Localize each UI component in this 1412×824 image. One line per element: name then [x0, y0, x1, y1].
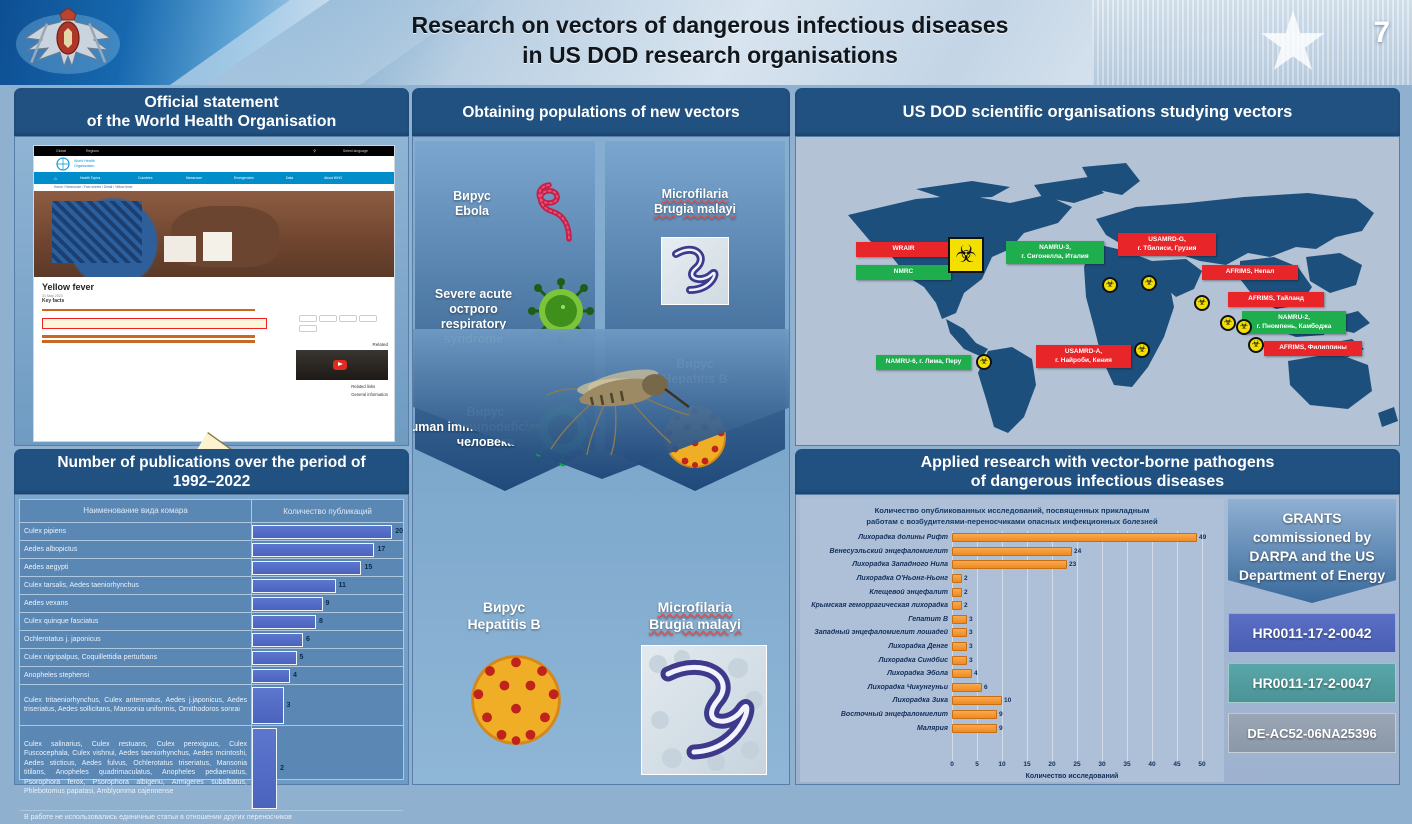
chart-bar-value: 3: [969, 629, 973, 636]
chart-bar-value: 9: [999, 725, 1003, 732]
xaxis-tick: 10: [998, 761, 1005, 768]
biohazard-icon-cambodia: ☣: [1236, 319, 1252, 335]
bar-value: 15: [364, 564, 372, 571]
play-icon[interactable]: [333, 360, 347, 370]
chart-bar-value: 9: [999, 711, 1003, 718]
chart-category-label: Лихорадка Синдбис: [800, 657, 952, 664]
grants-title: GRANTS commissioned by DARPA and the US …: [1228, 499, 1396, 603]
bar-value: 11: [339, 582, 346, 589]
chart-bar-wrap: 9: [952, 721, 1224, 735]
chart-bar-wrap: 4: [952, 667, 1224, 681]
chart-row: Клещевой энцефалит2: [800, 585, 1224, 599]
bar-cell: 5: [252, 649, 403, 666]
page-number: 7: [1373, 16, 1390, 50]
bar-value: 9: [326, 600, 330, 607]
who-breadcrumb-text: Home / Newsroom / Fact sheets / Detail /…: [54, 185, 133, 189]
bar: [252, 669, 290, 683]
label-hepatitis-b-bottom: Вирус Hepatitis B: [429, 599, 579, 633]
biohazard-icon-georgia: ☣: [1141, 275, 1157, 291]
who-nav-item-1[interactable]: Countries: [138, 176, 153, 180]
bar-value: 4: [293, 672, 297, 679]
publications-panel: Number of publications over the period o…: [14, 449, 409, 785]
chart-bar-wrap: 2: [952, 585, 1224, 599]
chart-row: Лихорадка Зика10: [800, 694, 1224, 708]
xaxis-tick: 20: [1048, 761, 1055, 768]
applied-panel-header: Applied research with vector-borne patho…: [795, 449, 1400, 494]
table-row: Aedes albopictus17: [20, 541, 403, 559]
vectors-panel: Obtaining populations of new vectors Вир…: [412, 88, 790, 785]
page-title-line2: in US DOD research organisations: [300, 40, 1120, 70]
grant-chip-1[interactable]: HR0011-17-2-0042: [1228, 613, 1396, 653]
xaxis-tick: 0: [950, 761, 954, 768]
chart-bar-wrap: 23: [952, 558, 1224, 572]
publications-panel-header: Number of publications over the period o…: [14, 449, 409, 494]
who-related-video[interactable]: [296, 350, 388, 380]
vectors-panel-body: Вирус Ebola Severe acute острого respira…: [412, 136, 790, 785]
chart-row: Малярия9: [800, 721, 1224, 735]
table-row: Ochlerotatus j. japonicus6: [20, 631, 403, 649]
photo-medicine-box-2: [203, 232, 232, 260]
chart-bar-value: 3: [969, 616, 973, 623]
who-breadcrumb: Home / Newsroom / Fact sheets / Detail /…: [34, 184, 394, 191]
chart-category-label: Лихорадка долины Рифт: [800, 534, 952, 541]
table-row: Aedes aegypti15: [20, 559, 403, 577]
bar-cell: 15: [252, 559, 403, 576]
applied-chart-plot: Лихорадка долины Рифт49Венесуэльский энц…: [800, 531, 1224, 761]
chart-bar: [952, 547, 1072, 556]
who-logo-bar: World Health Organization: [34, 156, 394, 172]
chart-bar-wrap: 10: [952, 694, 1224, 708]
share-chip[interactable]: [359, 315, 377, 322]
map-panel-body: WRAIR NMRC ☣ NAMRU-6, г. Лима, Перу ☣ NA…: [795, 136, 1400, 446]
table-row: Culex nigripalpus, Coquillettidia pertur…: [20, 649, 403, 667]
species-name: Aedes albopictus: [20, 541, 252, 558]
publications-header-line1: Number of publications over the period o…: [57, 453, 365, 472]
bar: [252, 579, 336, 593]
table-row: Aedes vexans9: [20, 595, 403, 613]
share-chip[interactable]: [339, 315, 357, 322]
bar: [252, 633, 303, 647]
chart-bar: [952, 696, 1002, 705]
chart-bar-value: 2: [964, 589, 968, 596]
chart-category-label: Западный энцефаломиелит лошадей: [800, 629, 952, 636]
who-hero-photo: [34, 191, 394, 277]
xaxis-tick: 15: [1023, 761, 1030, 768]
chart-category-label: Малярия: [800, 725, 952, 732]
species-name: Ochlerotatus j. japonicus: [20, 631, 252, 648]
bar-value: 3: [287, 702, 291, 709]
chart-bar: [952, 710, 997, 719]
publications-header-line2: 1992–2022: [57, 472, 365, 491]
chart-category-label: Восточный энцефаломиелит: [800, 711, 952, 718]
who-related-links: Related links General information: [351, 384, 388, 397]
who-nav-item-5[interactable]: About WHO: [324, 176, 342, 180]
bar-cell: 6: [252, 631, 403, 648]
applied-header-line1: Applied research with vector-borne patho…: [921, 453, 1275, 472]
who-topbar: Global Regions Select language ⚲: [34, 146, 394, 156]
microfilaria-micrograph-bottom: [641, 645, 767, 775]
russian-mod-emblem: [8, 4, 128, 82]
bar: [252, 525, 392, 539]
who-highlighted-fact: [42, 318, 267, 329]
chart-bar-wrap: 2: [952, 572, 1224, 586]
chart-row: Лихорадка О'Ньонг-Ньонг2: [800, 572, 1224, 586]
applied-research-panel: Applied research with vector-borne patho…: [795, 449, 1400, 785]
chart-row: Лихорадка Западного Нила23: [800, 558, 1224, 572]
publications-footnote: В работе не использовались единичные ста…: [20, 810, 403, 824]
chart-bar-value: 3: [969, 657, 973, 664]
map-label-namru3[interactable]: NAMRU-3, г. Сигонелла, Италия: [1006, 241, 1104, 264]
biohazard-icon-italy: ☣: [1102, 277, 1118, 293]
map-label-afrims-nepal[interactable]: AFRIMS, Непал: [1202, 265, 1298, 280]
grant-chip-2[interactable]: HR0011-17-2-0047: [1228, 663, 1396, 703]
chart-bar: [952, 588, 962, 597]
map-label-afrims-philippines[interactable]: AFRIMS, Филиппины: [1264, 341, 1362, 356]
species-name: Aedes aegypti: [20, 559, 252, 576]
chart-category-label: Лихорадка Чикунгуньи: [800, 684, 952, 691]
who-header-line2: of the World Health Organisation: [87, 112, 337, 131]
chart-bar: [952, 628, 967, 637]
who-logo-text: World Health Organization: [74, 159, 114, 168]
bar: [252, 615, 316, 629]
photo-medicine-box-1: [164, 236, 196, 262]
who-related-heading: Related: [372, 342, 388, 347]
chart-row: Восточный энцефаломиелит9: [800, 708, 1224, 722]
biohazard-icon-peru: ☣: [976, 354, 992, 370]
who-nav-bar: ⌂ Health Topics Countries Newsroom Emerg…: [34, 172, 394, 184]
label-virus-ebola: Вирус Ebola: [427, 189, 517, 219]
species-name: Culex quinque fasciatus: [20, 613, 252, 630]
chart-row: Лихорадка Чикунгуньи6: [800, 681, 1224, 695]
who-nav-item-2[interactable]: Newsroom: [186, 176, 202, 180]
biohazard-icon-nepal: ☣: [1194, 295, 1210, 311]
species-name: Culex nigripalpus, Coquillettidia pertur…: [20, 649, 252, 666]
species-name: Culex salinarius, Culex restuans, Culex …: [20, 726, 252, 810]
chart-row: Гепатит B3: [800, 613, 1224, 627]
who-nav-item-3[interactable]: Emergencies: [234, 176, 254, 180]
species-name: Aedes vexans: [20, 595, 252, 612]
chart-bar: [952, 615, 967, 624]
chart-bar-wrap: 24: [952, 545, 1224, 559]
chart-bar: [952, 724, 997, 733]
bar-cell: 20: [252, 523, 403, 540]
chart-bar: [952, 656, 967, 665]
chart-bar: [952, 533, 1197, 542]
label-microfilaria-top: Microfilaria Brugia malayi: [609, 187, 781, 217]
grant-chip-3[interactable]: DE-AC52-06NA25396: [1228, 713, 1396, 753]
species-name: Culex pipiens: [20, 523, 252, 540]
who-topbar-language[interactable]: Select language: [343, 149, 368, 153]
applied-chart-xaxis: 05101520253035404550: [952, 761, 1224, 773]
chart-category-label: Лихорадка Эбола: [800, 670, 952, 677]
bar-value: 6: [306, 636, 310, 643]
xaxis-tick: 30: [1098, 761, 1105, 768]
biohazard-icon-kenya: ☣: [1134, 342, 1150, 358]
share-chip[interactable]: [299, 315, 317, 322]
chart-bar-value: 6: [984, 684, 988, 691]
chart-bar: [952, 669, 972, 678]
who-panel-body: Global Regions Select language ⚲ World H…: [14, 136, 409, 446]
bar: [252, 651, 297, 665]
table-header-row: Наименование вида комара Количество публ…: [20, 500, 403, 523]
chart-bar: [952, 683, 982, 692]
biohazard-icon-philippines: ☣: [1248, 337, 1264, 353]
chart-category-label: Клещевой энцефалит: [800, 589, 952, 596]
chart-row: Лихорадка Денге3: [800, 640, 1224, 654]
microfilaria-micrograph-top: [661, 237, 729, 305]
share-chip[interactable]: [299, 325, 317, 332]
chart-bar-value: 49: [1199, 534, 1206, 541]
bar: [252, 561, 361, 575]
chart-row: Лихорадка долины Рифт49: [800, 531, 1224, 545]
map-label-usamrd-a[interactable]: USAMRD-A, г. Найроби, Кения: [1036, 345, 1131, 368]
applied-chart-title: Количество опубликованных исследований, …: [800, 499, 1224, 531]
who-topbar-global[interactable]: Global: [56, 149, 66, 153]
who-statement-panel: Official statement of the World Health O…: [14, 88, 409, 446]
chart-bar-value: 3: [969, 643, 973, 650]
chart-category-label: Лихорадка Зика: [800, 697, 952, 704]
chart-bar-value: 4: [974, 670, 978, 677]
chart-bar-wrap: 3: [952, 613, 1224, 627]
slide-header: Research on vectors of dangerous infecti…: [0, 0, 1412, 85]
bar: [252, 728, 277, 809]
kremlin-buildings-backdrop: [1092, 0, 1412, 85]
chart-row: Лихорадка Синдбис3: [800, 653, 1224, 667]
bar: [252, 543, 374, 557]
who-share-chips: [298, 314, 388, 334]
table-row: Culex tarsalis, Aedes taeniorhynchus11: [20, 577, 403, 595]
chart-category-label: Лихорадка О'Ньонг-Ньонг: [800, 575, 952, 582]
ebola-virus-icon: [515, 177, 595, 247]
table-row: Anopheles stephensi4: [20, 667, 403, 685]
chart-row: Лихорадка Эбола4: [800, 667, 1224, 681]
bar-value: 5: [300, 654, 304, 661]
map-panel-header: US DOD scientific organisations studying…: [795, 88, 1400, 136]
bar: [252, 597, 323, 611]
chart-bar-value: 10: [1004, 697, 1011, 704]
map-panel: US DOD scientific organisations studying…: [795, 88, 1400, 446]
chart-category-label: Лихорадка Западного Нила: [800, 561, 952, 568]
biohazard-icon-thailand: ☣: [1220, 315, 1236, 331]
chart-bar: [952, 642, 967, 651]
chart-bar-wrap: 2: [952, 599, 1224, 613]
vectors-panel-header: Obtaining populations of new vectors: [412, 88, 790, 136]
chart-row: Венесуэльский энцефаломиелит24: [800, 545, 1224, 559]
chart-bar-value: 2: [964, 602, 968, 609]
who-related-links-label[interactable]: Related links: [351, 384, 388, 389]
applied-panel-body: Количество опубликованных исследований, …: [795, 494, 1400, 785]
bar-cell: 2: [252, 726, 403, 810]
chart-bar-wrap: 3: [952, 640, 1224, 654]
chart-bar-wrap: 6: [952, 681, 1224, 695]
publications-table: Наименование вида комара Количество публ…: [19, 499, 404, 780]
map-label-usamrd-g[interactable]: USAMRD-G, г. Тбилиси, Грузия: [1118, 233, 1216, 256]
chart-bar-value: 24: [1074, 548, 1081, 555]
chart-bar-wrap: 3: [952, 653, 1224, 667]
map-label-nmrc[interactable]: NMRC: [856, 265, 951, 280]
publications-panel-body: Наименование вида комара Количество публ…: [14, 494, 409, 785]
page-title-line1: Research on vectors of dangerous infecti…: [300, 10, 1120, 40]
xaxis-tick: 35: [1123, 761, 1130, 768]
bar-value: 20: [395, 528, 403, 535]
applied-bar-chart: Количество опубликованных исследований, …: [800, 499, 1224, 782]
bar-cell: 11: [252, 577, 403, 594]
share-chip[interactable]: [319, 315, 337, 322]
who-logo-icon: [56, 157, 70, 171]
bar-cell: 4: [252, 667, 403, 684]
column-header-species: Наименование вида комара: [20, 500, 252, 522]
bar: [252, 687, 284, 724]
label-microfilaria-bottom: Microfilaria Brugia malayi: [609, 599, 781, 633]
xaxis-tick: 40: [1148, 761, 1155, 768]
map-label-namru6[interactable]: NAMRU-6, г. Лима, Перу: [876, 355, 971, 370]
who-general-info-label[interactable]: General information: [351, 392, 388, 397]
chart-bar: [952, 601, 962, 610]
bar-value: 17: [377, 546, 385, 553]
chart-category-label: Крымская геморрагическая лихорадка: [800, 602, 952, 609]
page-title: Research on vectors of dangerous infecti…: [300, 10, 1120, 70]
chart-bar-wrap: 3: [952, 626, 1224, 640]
chart-bar: [952, 574, 962, 583]
chart-bar-wrap: 49: [952, 531, 1224, 545]
grants-block: GRANTS commissioned by DARPA and the US …: [1228, 499, 1396, 782]
applied-chart-xlabel: Количество исследований: [920, 773, 1224, 780]
bar-cell: 9: [252, 595, 403, 612]
who-article-title: Yellow fever: [34, 277, 394, 294]
xaxis-tick: 45: [1173, 761, 1180, 768]
applied-header-line2: of dangerous infectious diseases: [921, 472, 1275, 491]
who-panel-header: Official statement of the World Health O…: [14, 88, 409, 136]
xaxis-tick: 25: [1073, 761, 1080, 768]
chart-bar: [952, 560, 1067, 569]
who-header-line1: Official statement: [87, 93, 337, 112]
chart-row: Крымская геморрагическая лихорадка2: [800, 599, 1224, 613]
bar-cell: 3: [252, 685, 403, 725]
who-nav-item-0[interactable]: Health Topics: [80, 176, 100, 180]
bar-cell: 8: [252, 613, 403, 630]
column-header-count: Количество публикаций: [252, 500, 403, 522]
xaxis-tick: 5: [975, 761, 979, 768]
chart-category-label: Венесуэльский энцефаломиелит: [800, 548, 952, 555]
who-website-screenshot: Global Regions Select language ⚲ World H…: [33, 145, 395, 442]
chart-bar-wrap: 9: [952, 708, 1224, 722]
map-label-afrims-thailand[interactable]: AFRIMS, Тайланд: [1228, 292, 1324, 307]
chart-row: Западный энцефаломиелит лошадей3: [800, 626, 1224, 640]
chart-bar-value: 2: [964, 575, 968, 582]
map-label-namru2[interactable]: NAMRU-2, г. Пномпень, Камбоджа: [1242, 311, 1346, 334]
biohazard-icon-usa: ☣: [948, 237, 984, 273]
table-row: Culex quinque fasciatus8: [20, 613, 403, 631]
who-topbar-regions[interactable]: Regions: [86, 149, 99, 153]
table-row: Culex pipiens20: [20, 523, 403, 541]
chart-category-label: Лихорадка Денге: [800, 643, 952, 650]
who-nav-item-4[interactable]: Data: [286, 176, 293, 180]
chart-category-label: Гепатит B: [800, 616, 952, 623]
bar-value: 2: [280, 765, 284, 772]
search-icon[interactable]: ⚲: [313, 149, 316, 153]
map-label-wrair[interactable]: WRAIR: [856, 242, 951, 257]
species-name: Anopheles stephensi: [20, 667, 252, 684]
chart-bar-value: 23: [1069, 561, 1076, 568]
xaxis-tick: 50: [1198, 761, 1205, 768]
species-name: Culex tarsalis, Aedes taeniorhynchus: [20, 577, 252, 594]
hepatitis-b-virus-icon-bottom: [461, 645, 571, 755]
species-name: Culex tritaeniorhynchus, Culex antennatu…: [20, 685, 252, 725]
bar-value: 8: [319, 618, 323, 625]
publications-rows: Culex pipiens20Aedes albopictus17Aedes a…: [20, 523, 403, 810]
bar-cell: 17: [252, 541, 403, 558]
photo-person-shirt: [52, 201, 142, 263]
mosquito-photo: [531, 345, 701, 460]
table-row: Culex salinarius, Culex restuans, Culex …: [20, 726, 403, 810]
table-row: Culex tritaeniorhynchus, Culex antennatu…: [20, 685, 403, 726]
